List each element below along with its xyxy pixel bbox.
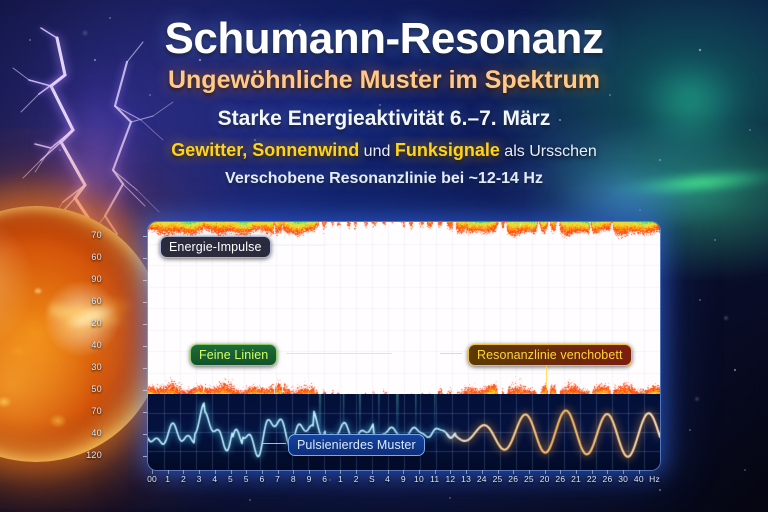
x-axis-tick-mark: [529, 470, 530, 474]
headline-resonance: Verschobene Resonanzlinie bei ~12-14 Hz: [0, 170, 768, 188]
y-axis-tick: 50: [72, 384, 102, 394]
x-axis-tick-mark: [372, 470, 373, 474]
headline-causes: Gewitter, Sonnenwind und Funksignale als…: [0, 140, 768, 161]
x-axis-tick-mark: [231, 470, 232, 474]
x-axis-tick-mark: [419, 470, 420, 474]
x-axis-tick-mark: [482, 470, 483, 474]
y-axis-tick-mark: [143, 368, 147, 369]
x-axis-tick-mark: [293, 470, 294, 474]
x-axis-tick-mark: [435, 470, 436, 474]
y-axis-tick-mark: [143, 280, 147, 281]
x-axis-tick-mark: [278, 470, 279, 474]
y-axis-tick: 40: [72, 340, 102, 350]
x-axis-tick-mark: [340, 470, 341, 474]
leader-fine-lines: [286, 353, 392, 354]
y-axis-tick: 40: [72, 428, 102, 438]
y-axis-tick: 70: [72, 406, 102, 416]
y-axis-tick-mark: [143, 324, 147, 325]
x-axis-tick-mark: [199, 470, 200, 474]
y-axis-tick: 70: [72, 230, 102, 240]
sun-limb: [0, 206, 164, 462]
y-axis-tick-mark: [143, 412, 147, 413]
y-axis-tick: 60: [72, 252, 102, 262]
cause-tail: als Ursschen: [500, 143, 597, 160]
x-axis-tick-mark: [152, 470, 153, 474]
x-axis-tick-mark: [607, 470, 608, 474]
x-axis-tick-mark: [498, 470, 499, 474]
y-axis-tick: 30: [72, 362, 102, 372]
y-axis-tick-mark: [143, 258, 147, 259]
page-subtitle: Ungewöhnliche Muster im Spektrum: [0, 66, 768, 95]
waveform-canvas: [148, 394, 660, 470]
x-axis-tick-mark: [325, 470, 326, 474]
cause-highlight-1: Gewitter, Sonnenwind: [171, 140, 359, 160]
callout-feine-linien[interactable]: Feine Linien: [190, 344, 277, 366]
sun-disc: [0, 206, 164, 462]
x-axis-tick-mark: [168, 470, 169, 474]
callout-energie-impulse[interactable]: Energie-Impulse: [160, 236, 271, 258]
headline-activity: Starke Energieaktivität 6.–7. März: [0, 107, 768, 131]
x-axis-tick-mark: [450, 470, 451, 474]
page-title: Schumann-Resonanz: [0, 14, 768, 64]
y-axis-tick: 90: [72, 274, 102, 284]
y-axis-tick: 60: [72, 296, 102, 306]
x-axis-tick-mark: [576, 470, 577, 474]
x-axis-unit-label: Hz: [646, 474, 664, 484]
x-axis-tick-mark: [215, 470, 216, 474]
callout-resonanzlinie[interactable]: Resonanzlinie venchobett: [468, 344, 632, 366]
y-axis-tick: 20: [72, 318, 102, 328]
cause-highlight-2: Funksignale: [395, 140, 500, 160]
y-axis-tick-mark: [143, 434, 147, 435]
y-axis-tick-mark: [143, 456, 147, 457]
x-axis-tick-mark: [513, 470, 514, 474]
leader-resonance: [440, 353, 462, 354]
y-axis-tick: 120: [72, 450, 102, 460]
callout-pulsierendes-muster[interactable]: Pulsienierdes Muster: [288, 434, 425, 456]
leader-resonance-drop: [546, 366, 547, 388]
x-axis-tick-mark: [560, 470, 561, 474]
y-axis-tick-mark: [143, 390, 147, 391]
x-axis-tick-mark: [592, 470, 593, 474]
x-axis-tick-mark: [183, 470, 184, 474]
y-axis-tick-mark: [143, 302, 147, 303]
x-axis-tick-mark: [262, 470, 263, 474]
y-axis-tick-mark: [143, 236, 147, 237]
poster-root: Schumann-Resonanz Ungewöhnliche Muster i…: [0, 0, 768, 512]
waveform-area[interactable]: [148, 394, 660, 470]
x-axis-tick-mark: [388, 470, 389, 474]
headline-block: Schumann-Resonanz Ungewöhnliche Muster i…: [0, 0, 768, 188]
x-axis-tick-mark: [246, 470, 247, 474]
x-axis-tick-mark: [639, 470, 640, 474]
sun-granulation: [0, 206, 164, 462]
cause-conjunction: und: [359, 143, 395, 160]
x-axis-tick-mark: [545, 470, 546, 474]
x-axis-tick-mark: [623, 470, 624, 474]
x-axis-tick-mark: [356, 470, 357, 474]
y-axis-tick-mark: [143, 346, 147, 347]
x-axis-tick-mark: [466, 470, 467, 474]
leader-pulsing: [262, 443, 286, 444]
x-axis-tick-mark: [309, 470, 310, 474]
x-axis-tick-mark: [403, 470, 404, 474]
